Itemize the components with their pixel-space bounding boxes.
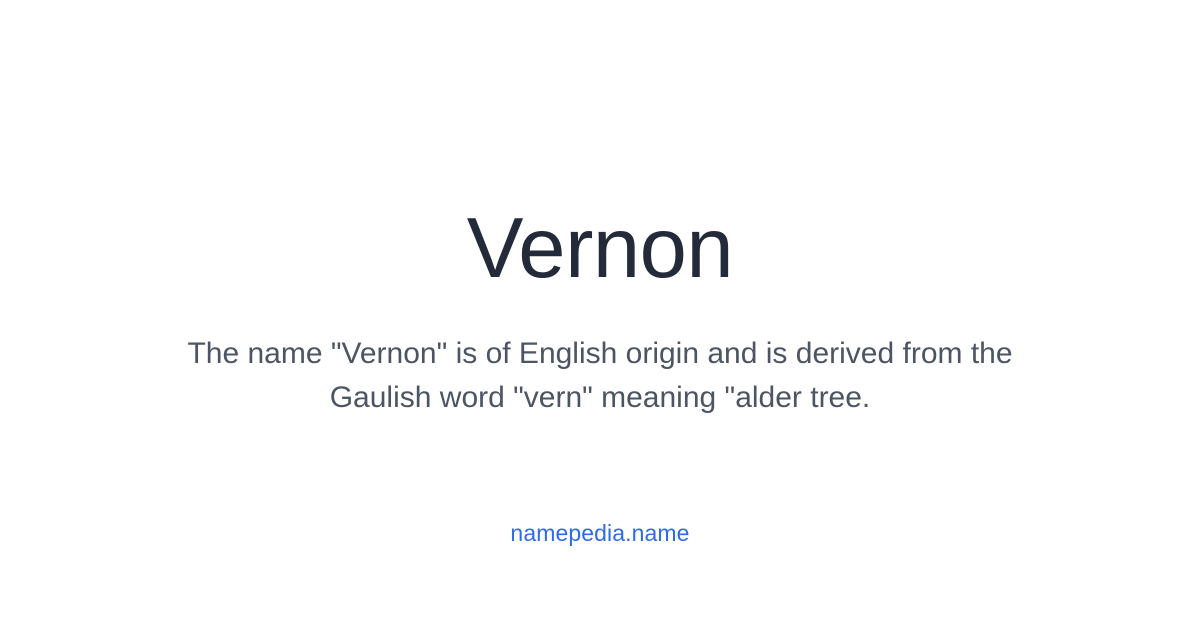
- name-meaning-card: Vernon The name "Vernon" is of English o…: [0, 0, 1200, 630]
- name-description: The name "Vernon" is of English origin a…: [150, 332, 1050, 420]
- page-title: Vernon: [0, 206, 1200, 291]
- footer: namepedia.name: [0, 518, 1200, 548]
- site-link[interactable]: namepedia.name: [510, 520, 689, 546]
